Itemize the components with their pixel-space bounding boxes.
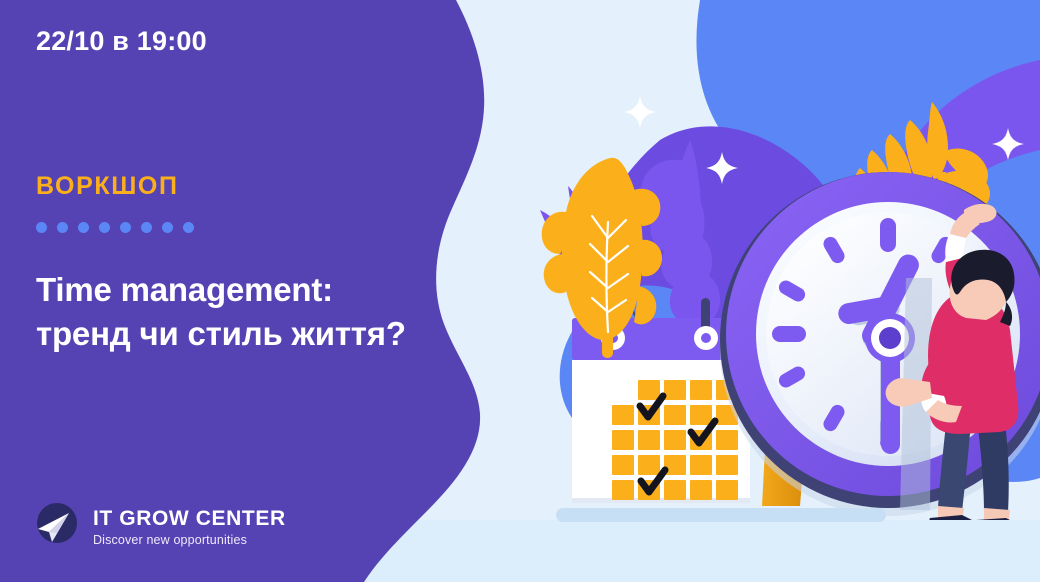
dot [57,222,68,233]
dot [120,222,131,233]
logo-name: IT GROW CENTER [93,507,286,530]
event-datetime: 22/10 в 19:00 [36,26,207,57]
brand-logo[interactable]: IT GROW CENTER Discover new opportunitie… [28,500,286,552]
workshop-promo-banner: 22/10 в 19:00 ВОРКШОП Time management: т… [0,0,1040,582]
event-type-kicker: ВОРКШОП [36,172,179,201]
dot [141,222,152,233]
logo-text-block: IT GROW CENTER Discover new opportunitie… [93,505,286,547]
logo-tagline: Discover new opportunities [93,533,286,547]
dot [162,222,173,233]
event-headline: Time management: тренд чи стиль життя? [36,268,466,356]
headline-line-2: тренд чи стиль життя? [36,312,466,356]
logo-mark [28,500,80,552]
dot [99,222,110,233]
dot [78,222,89,233]
headline-line-1: Time management: [36,271,333,308]
dot [183,222,194,233]
dot [36,222,47,233]
decorative-dot-row [36,222,194,233]
